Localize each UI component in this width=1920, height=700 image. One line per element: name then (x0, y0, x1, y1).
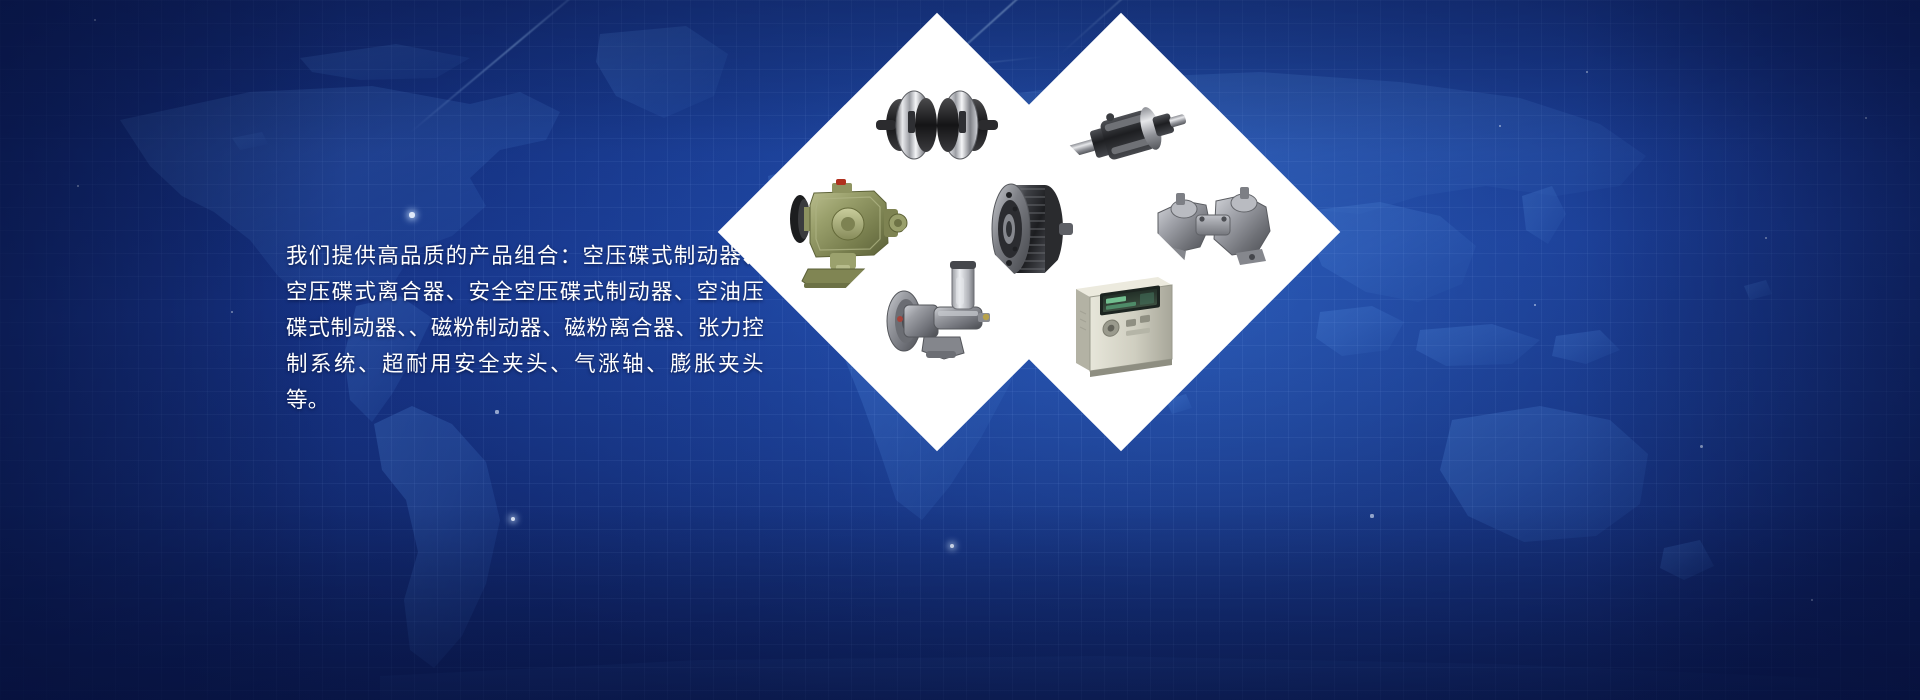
sparkle-dot-icon (950, 544, 955, 549)
sparkle-dot-icon (1370, 514, 1373, 517)
hero-banner: 我们提供高品质的产品组合：空压碟式制动器、空压碟式离合器、安全空压碟式制动器、空… (0, 0, 1920, 700)
sparkle-dot-icon (1586, 71, 1589, 74)
light-streak-icon (409, 0, 602, 134)
sparkle-dot-icon (77, 185, 79, 187)
sparkle-dot-icon (1765, 237, 1767, 239)
sparkle-dot-icon (231, 311, 233, 313)
sparkle-dot-icon (1811, 599, 1814, 602)
tension-controller-icon (1046, 249, 1196, 399)
product-diamond-grid (885, 140, 1255, 440)
sparkle-dot-icon (1700, 445, 1703, 448)
air-oil-booster-cylinder-icon (862, 249, 1012, 399)
sparkle-dot-icon (1865, 117, 1867, 119)
sparkle-dot-icon (1499, 125, 1502, 128)
sparkle-dot-icon (94, 19, 97, 22)
sparkle-dot-icon (511, 517, 515, 521)
sparkle-dot-icon (1534, 304, 1536, 306)
sparkle-dot-icon (409, 212, 414, 217)
banner-description: 我们提供高品质的产品组合：空压碟式制动器、空压碟式离合器、安全空压碟式制动器、空… (286, 238, 764, 418)
